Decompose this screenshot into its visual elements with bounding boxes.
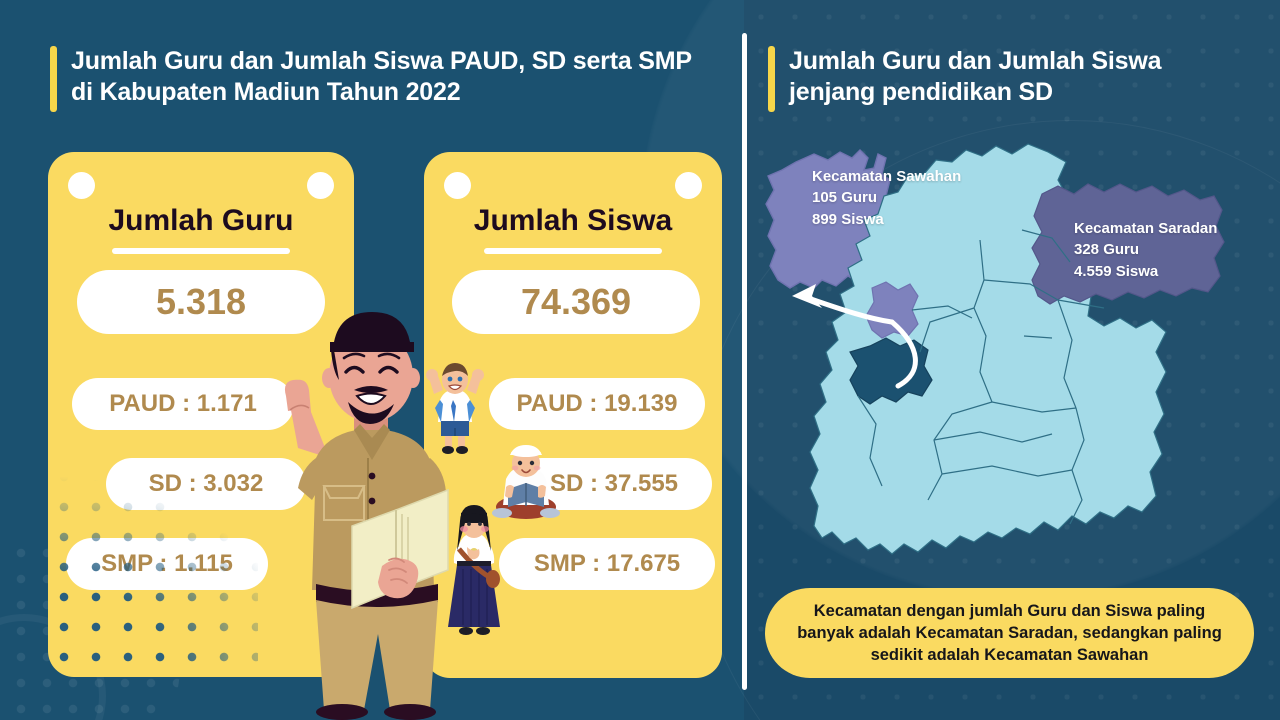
map-label-sawahan: Kecamatan Sawahan 105 Guru 899 Siswa [812,166,961,230]
card-underline [484,248,662,254]
map-label-saradan: Kecamatan Saradan 328 Guru 4.559 Siswa [1074,218,1217,282]
page-title-right: Jumlah Guru dan Jumlah Siswa jenjang pen… [789,46,1238,109]
header-accent-bar [50,46,57,112]
map-label-saradan-siswa: 4.559 Siswa [1074,261,1217,282]
card-dot-texture [48,462,258,677]
page-title-left: Jumlah Guru dan Jumlah Siswa PAUD, SD se… [71,46,710,109]
punch-hole-left-icon [444,172,471,199]
vertical-divider [742,33,747,690]
student-boy-illustration [424,356,486,454]
infographic-canvas: Jumlah Guru dan Jumlah Siswa PAUD, SD se… [0,0,1280,720]
map-caption-text: Kecamatan dengan jumlah Guru dan Siswa p… [765,600,1254,666]
siswa-smp-value: SMP : 17.675 [499,538,715,590]
punch-hole-left-icon [68,172,95,199]
map-region-dark [850,338,932,404]
left-header: Jumlah Guru dan Jumlah Siswa PAUD, SD se… [50,46,710,112]
map-label-sawahan-guru: 105 Guru [812,187,961,208]
map-caption-box: Kecamatan dengan jumlah Guru dan Siswa p… [765,588,1254,678]
card-title-siswa: Jumlah Siswa [424,204,722,238]
map-region: Kecamatan Sawahan 105 Guru 899 Siswa Kec… [752,140,1272,580]
map-label-saradan-guru: 328 Guru [1074,239,1217,260]
punch-hole-right-icon [307,172,334,199]
siswa-paud-value: PAUD : 19.139 [489,378,705,430]
header-accent-bar [768,46,775,112]
siswa-total-value: 74.369 [452,270,700,334]
student-girl-illustration [441,503,507,635]
map-label-sawahan-siswa: 899 Siswa [812,209,961,230]
map-label-sawahan-name: Kecamatan Sawahan [812,166,961,187]
map-region-sawahan-actual [866,282,918,338]
punch-hole-right-icon [675,172,702,199]
card-title-guru: Jumlah Guru [48,204,354,238]
card-underline [112,248,290,254]
right-header: Jumlah Guru dan Jumlah Siswa jenjang pen… [768,46,1238,112]
map-label-saradan-name: Kecamatan Saradan [1074,218,1217,239]
